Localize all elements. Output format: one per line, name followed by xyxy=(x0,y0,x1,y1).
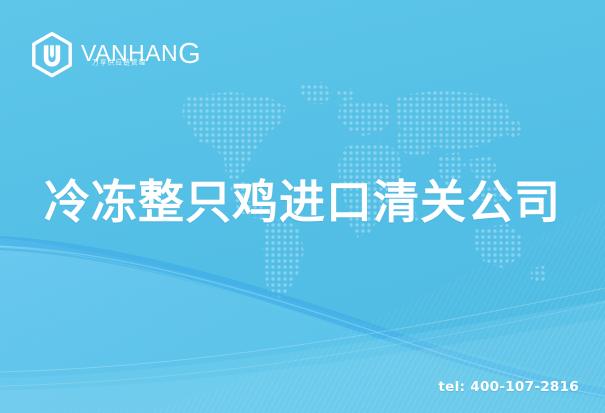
marketing-banner: VANHANG 万享供应链管理 冷冻整只鸡进口清关公司 tel: 400-107… xyxy=(0,0,605,413)
brand-wordmark-tail: G xyxy=(178,38,201,70)
brand-wordmark-group: VANHANG 万享供应链管理 xyxy=(81,32,203,78)
brand-logo[interactable]: VANHANG 万享供应链管理 xyxy=(30,29,210,81)
page-title: 冷冻整只鸡进口清关公司 xyxy=(0,172,605,232)
contact-phone: tel: 400-107-2816 xyxy=(438,379,579,395)
hexagon-u-mark xyxy=(30,32,74,78)
brand-subtitle: 万享供应链管理 xyxy=(92,58,146,68)
